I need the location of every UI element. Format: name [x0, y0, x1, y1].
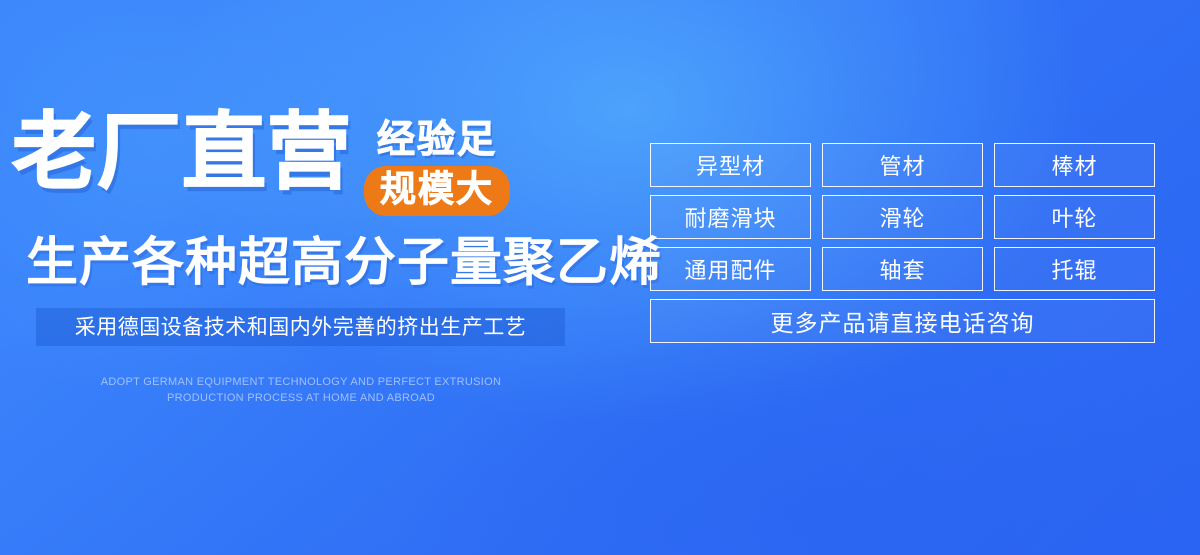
badge-experience: 经验足 — [377, 118, 497, 160]
english-tagline-line2: PRODUCTION PROCESS AT HOME AND ABROAD — [36, 390, 566, 406]
promo-banner: 老厂直营 经验足 规模大 生产各种超高分子量聚乙烯 采用德国设备技术和国内外完善… — [0, 0, 1200, 555]
badge-scale: 规模大 — [364, 166, 510, 216]
product-button-bangcai[interactable]: 棒材 — [994, 143, 1155, 187]
english-tagline: ADOPT GERMAN EQUIPMENT TECHNOLOGY AND PE… — [36, 374, 566, 406]
product-button-naimohuakuai[interactable]: 耐磨滑块 — [650, 195, 811, 239]
subheadline: 生产各种超高分子量聚乙烯 — [26, 234, 662, 292]
headline-row: 老厂直营 经验足 规模大 — [12, 108, 510, 216]
headline-main: 老厂直营 — [12, 108, 352, 196]
product-row-1: 异型材 管材 棒材 — [650, 143, 1155, 187]
product-button-tuogun[interactable]: 托辊 — [994, 247, 1155, 291]
tagline-text: 采用德国设备技术和国内外完善的挤出生产工艺 — [75, 315, 527, 339]
english-tagline-line1: ADOPT GERMAN EQUIPMENT TECHNOLOGY AND PE… — [36, 374, 566, 390]
product-button-yelun[interactable]: 叶轮 — [994, 195, 1155, 239]
badge-stack: 经验足 规模大 — [364, 118, 510, 216]
contact-cta-button[interactable]: 更多产品请直接电话咨询 — [650, 299, 1155, 343]
product-button-zhoutao[interactable]: 轴套 — [822, 247, 983, 291]
product-button-tongyongpeijian[interactable]: 通用配件 — [650, 247, 811, 291]
product-row-3: 通用配件 轴套 托辊 — [650, 247, 1155, 291]
headline-block: 老厂直营 经验足 规模大 生产各种超高分子量聚乙烯 采用德国设备技术和国内外完善… — [0, 0, 620, 555]
product-row-2: 耐磨滑块 滑轮 叶轮 — [650, 195, 1155, 239]
product-row-cta: 更多产品请直接电话咨询 — [650, 299, 1155, 343]
product-category-grid: 异型材 管材 棒材 耐磨滑块 滑轮 叶轮 通用配件 轴套 托辊 更多产品请直接电… — [650, 143, 1155, 343]
product-button-hualun[interactable]: 滑轮 — [822, 195, 983, 239]
product-button-guancai[interactable]: 管材 — [822, 143, 983, 187]
tagline-strip: 采用德国设备技术和国内外完善的挤出生产工艺 — [36, 308, 565, 346]
product-button-yixingcai[interactable]: 异型材 — [650, 143, 811, 187]
